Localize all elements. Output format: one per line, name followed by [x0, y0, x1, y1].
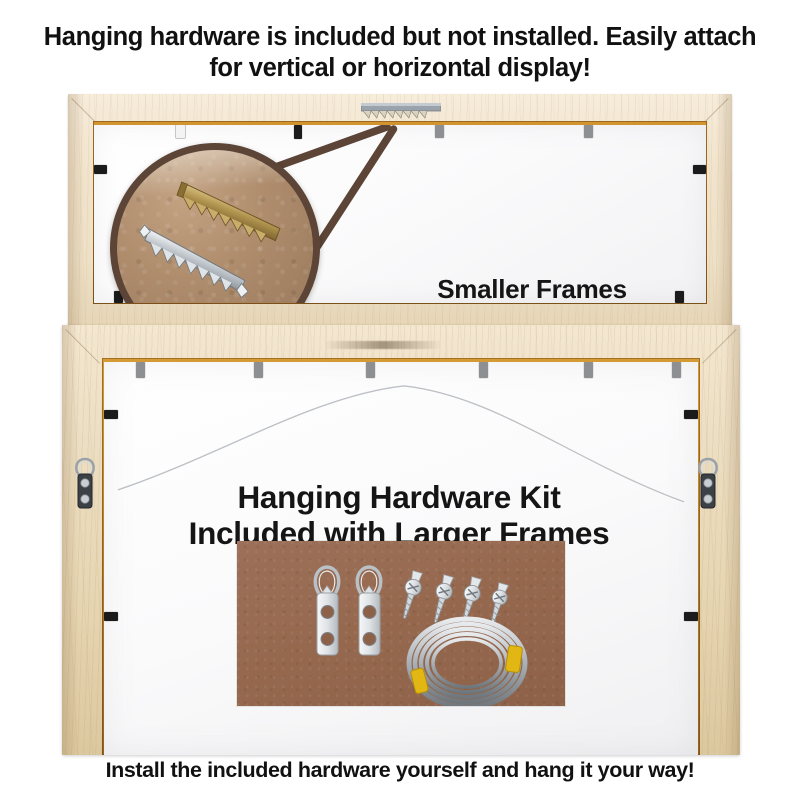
retainer-clip — [294, 125, 302, 139]
retainer-clip — [672, 362, 681, 378]
backing-board: Smaller Frames Include Sawtooth Hanger — [94, 125, 706, 303]
sawtooth-hanger-on-rail-icon — [361, 103, 441, 119]
retainer-clip — [693, 165, 706, 174]
retainer-clip — [435, 125, 444, 138]
retainer-clip — [366, 362, 375, 378]
retainer-clip — [684, 612, 698, 621]
retainer-clip — [584, 125, 593, 138]
footer-text: Install the included hardware yourself a… — [0, 757, 800, 783]
headline-text: Hanging hardware is included but not ins… — [0, 22, 800, 84]
d-ring-hanger-right-icon — [695, 455, 721, 517]
screw-item — [428, 574, 457, 625]
smaller-frame-caption-line-1: Smaller Frames — [356, 275, 706, 303]
screw-item — [397, 570, 426, 621]
product-infographic: Hanging hardware is included but not ins… — [0, 0, 800, 800]
wood-scuff-mark — [324, 341, 442, 349]
hardware-kit-photo — [237, 541, 565, 706]
hardware-kit-contents — [237, 541, 565, 706]
coiled-picture-wire-item — [409, 619, 525, 706]
magnifier-callout-circle — [110, 143, 320, 303]
retainer-clip — [94, 165, 107, 174]
retainer-clip — [254, 362, 263, 378]
retainer-clip — [584, 362, 593, 378]
retainer-clip — [684, 410, 698, 419]
d-ring-hanger-left-icon — [72, 455, 98, 517]
retainer-clip — [104, 612, 118, 621]
d-ring-hanger-item — [357, 567, 380, 655]
larger-frame-caption-line-1: Hanging Hardware Kit — [107, 480, 691, 516]
d-ring-hanger-item — [315, 567, 338, 655]
retainer-clip — [479, 362, 488, 378]
smaller-frame-back: Smaller Frames Include Sawtooth Hanger — [68, 94, 732, 330]
retainer-clip — [104, 410, 118, 419]
retainer-clip — [176, 125, 185, 138]
smaller-frame-caption: Smaller Frames Include Sawtooth Hanger — [356, 275, 706, 303]
retainer-clip — [136, 362, 145, 378]
